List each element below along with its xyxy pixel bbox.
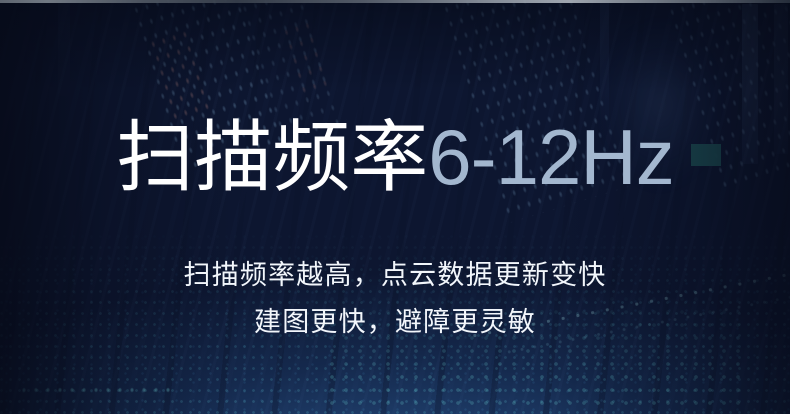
headline-value: 6-12Hz xyxy=(428,113,673,201)
subtitle-line-1: 扫描频率越高，点云数据更新变快 xyxy=(0,253,790,292)
banner-content: 扫描频率6-12Hz 扫描频率越高，点云数据更新变快 建图更快，避障更灵敏 xyxy=(0,0,790,414)
headline: 扫描频率6-12Hz xyxy=(0,118,790,197)
headline-label: 扫描频率 xyxy=(116,113,428,203)
subtitle-line-2: 建图更快，避障更灵敏 xyxy=(0,300,790,339)
product-feature-banner: 扫描频率6-12Hz 扫描频率越高，点云数据更新变快 建图更快，避障更灵敏 xyxy=(0,0,790,414)
